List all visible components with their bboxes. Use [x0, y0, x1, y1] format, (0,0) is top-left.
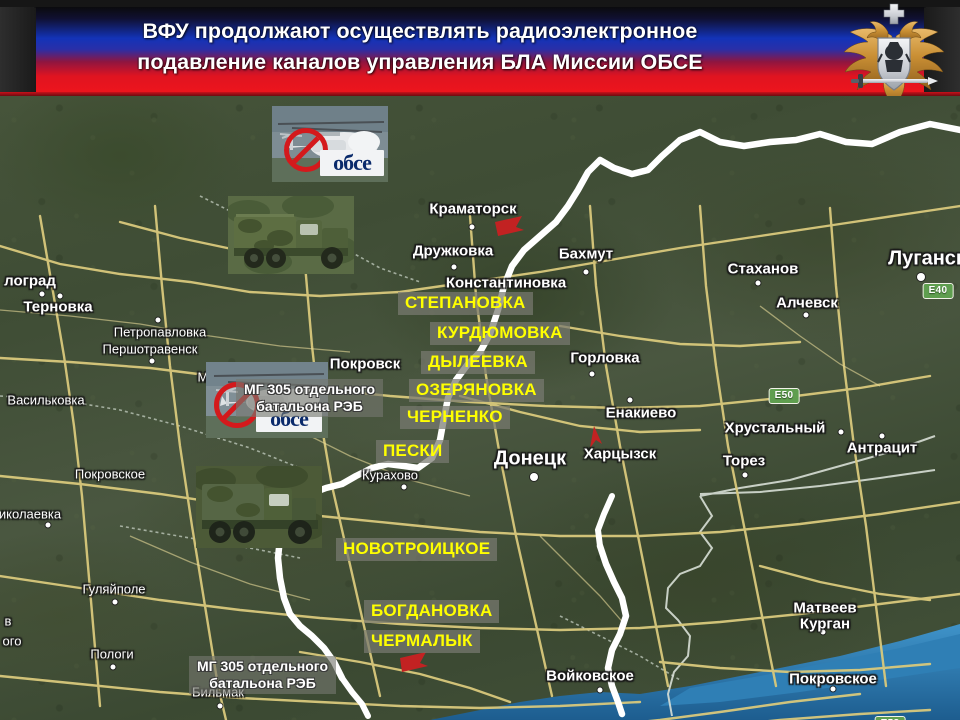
highlighted-settlement-label: НОВОТРОИЦКОЕ: [336, 538, 497, 561]
banner-left-bevel: [0, 0, 36, 96]
ew-truck-photo-south[interactable]: [196, 466, 322, 548]
city-dot: [402, 485, 407, 490]
city-dot: [756, 281, 761, 286]
ew-truck-photo-north[interactable]: [228, 196, 354, 274]
city-dot: [470, 225, 475, 230]
osce-logo: обсе: [320, 150, 384, 176]
city-dot: [743, 473, 748, 478]
unit-caption-north: МГ 305 отдельного батальона РЭБ: [236, 379, 383, 417]
banner-bottom-edge: [0, 92, 960, 96]
city-dot: [113, 600, 118, 605]
satellite-map[interactable]: КраматорскДружковкаБахмутКонстантиновкаС…: [0, 96, 960, 720]
city-dot: [156, 318, 161, 323]
city-dot: [590, 372, 595, 377]
highlighted-settlement-label: БОГДАНОВКА: [364, 600, 499, 623]
ew-truck-graphic: [196, 466, 322, 548]
city-dot: [628, 398, 633, 403]
highlighted-settlement-label: ЧЕРНЕНКО: [400, 406, 510, 429]
highlighted-settlement-label: ДЫЛЕЕВКА: [421, 351, 535, 374]
city-dot: [452, 265, 457, 270]
city-dot: [584, 270, 589, 275]
city-dot: [839, 430, 844, 435]
osce-logo-text: обсе: [333, 150, 371, 176]
title-banner: ВФУ продолжают осуществлять радиоэлектро…: [0, 0, 960, 96]
highlighted-settlement-label: ОЗЕРЯНОВКА: [409, 379, 544, 402]
cross-icon: [884, 4, 904, 24]
city-dot: [58, 294, 63, 299]
banner-top-edge: [0, 0, 960, 7]
city-dot: [804, 313, 809, 318]
city-dot: [880, 434, 885, 439]
city-dot: [46, 523, 51, 528]
uav-photo-north[interactable]: обсе: [272, 106, 388, 182]
highway-shield: E40: [923, 283, 954, 299]
city-dot: [821, 630, 826, 635]
highway-shield: E58: [875, 716, 906, 720]
city-dot: [218, 704, 223, 709]
city-dot: [150, 359, 155, 364]
city-dot: [598, 688, 603, 693]
double-headed-eagle-emblem: [838, 2, 950, 96]
city-dot: [40, 292, 45, 297]
banner-title: ВФУ продолжают осуществлять радиоэлектро…: [40, 16, 800, 77]
city-dot: [111, 665, 116, 670]
city-dot: [917, 273, 925, 281]
highlighted-settlement-label: ЧЕРМАЛЫК: [364, 630, 480, 653]
highlighted-settlement-label: КУРДЮМОВКА: [430, 322, 570, 345]
city-dot: [530, 473, 538, 481]
city-dot: [831, 687, 836, 692]
highway-shield: E50: [769, 388, 800, 404]
screenshot-root: КраматорскДружковкаБахмутКонстантиновкаС…: [0, 0, 960, 720]
highlighted-settlement-label: ПЕСКИ: [376, 440, 449, 463]
ew-truck-graphic: [228, 196, 354, 274]
highlighted-settlement-label: СТЕПАНОВКА: [398, 292, 533, 315]
unit-caption-south: МГ 305 отдельного батальона РЭБ: [189, 656, 336, 694]
